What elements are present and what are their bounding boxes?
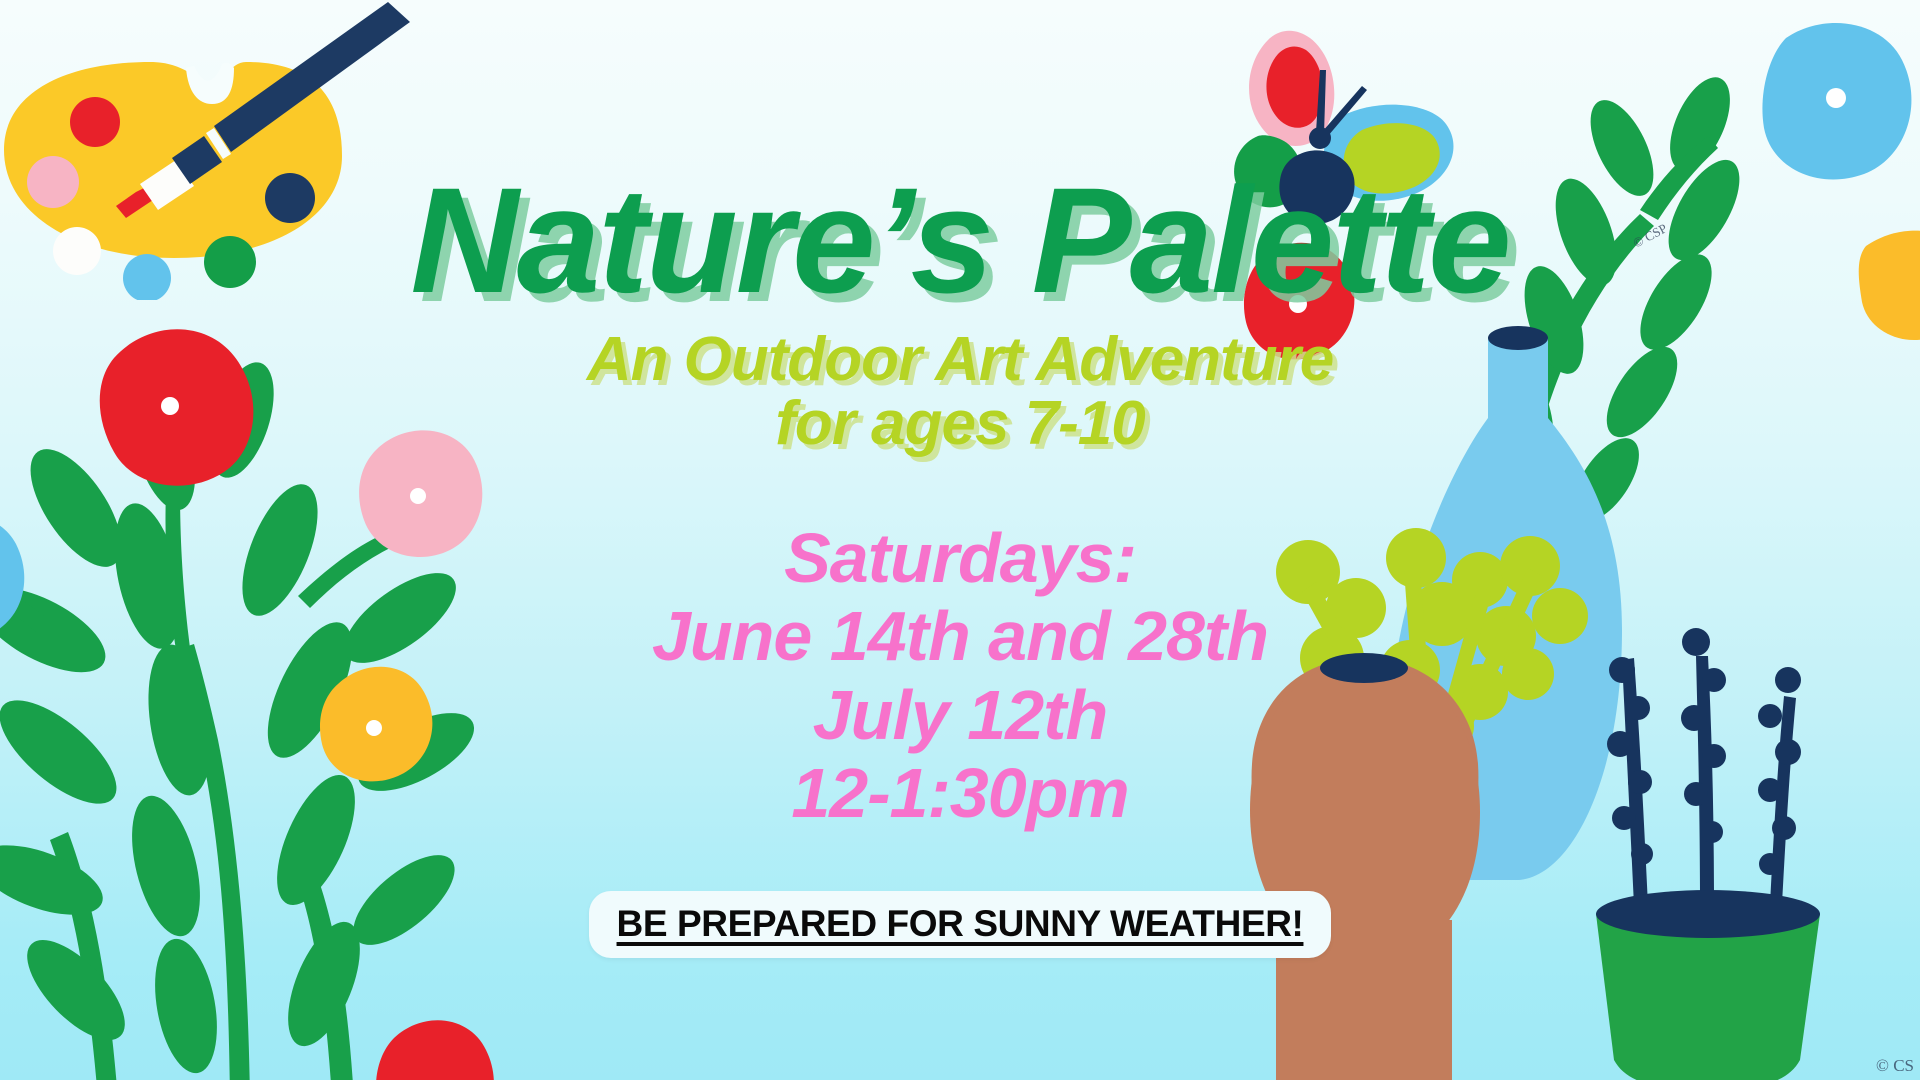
subtitle-line-1: An Outdoor Art Adventure [587, 325, 1333, 394]
poster-subtitle: An Outdoor Art Adventure for ages 7-10 [587, 328, 1333, 457]
poster-canvas: Nature’s Palette An Outdoor Art Adventur… [0, 0, 1920, 1080]
watermark-corner: © CS [1876, 1056, 1914, 1076]
notice-text: BE PREPARED FOR SUNNY WEATHER! [617, 905, 1304, 942]
schedule-line-july: July 12th [652, 676, 1268, 754]
subtitle-line-2: for ages 7-10 [587, 392, 1333, 456]
schedule-block: Saturdays: June 14th and 28th July 12th … [652, 519, 1268, 833]
page-title: Nature’s Palette [410, 168, 1509, 312]
schedule-line-time: 12-1:30pm [652, 754, 1268, 832]
schedule-line-june: June 14th and 28th [652, 597, 1268, 675]
schedule-line-days: Saturdays: [652, 519, 1268, 597]
notice-banner: BE PREPARED FOR SUNNY WEATHER! [589, 891, 1332, 958]
poster-text-stack: Nature’s Palette An Outdoor Art Adventur… [0, 0, 1920, 1080]
